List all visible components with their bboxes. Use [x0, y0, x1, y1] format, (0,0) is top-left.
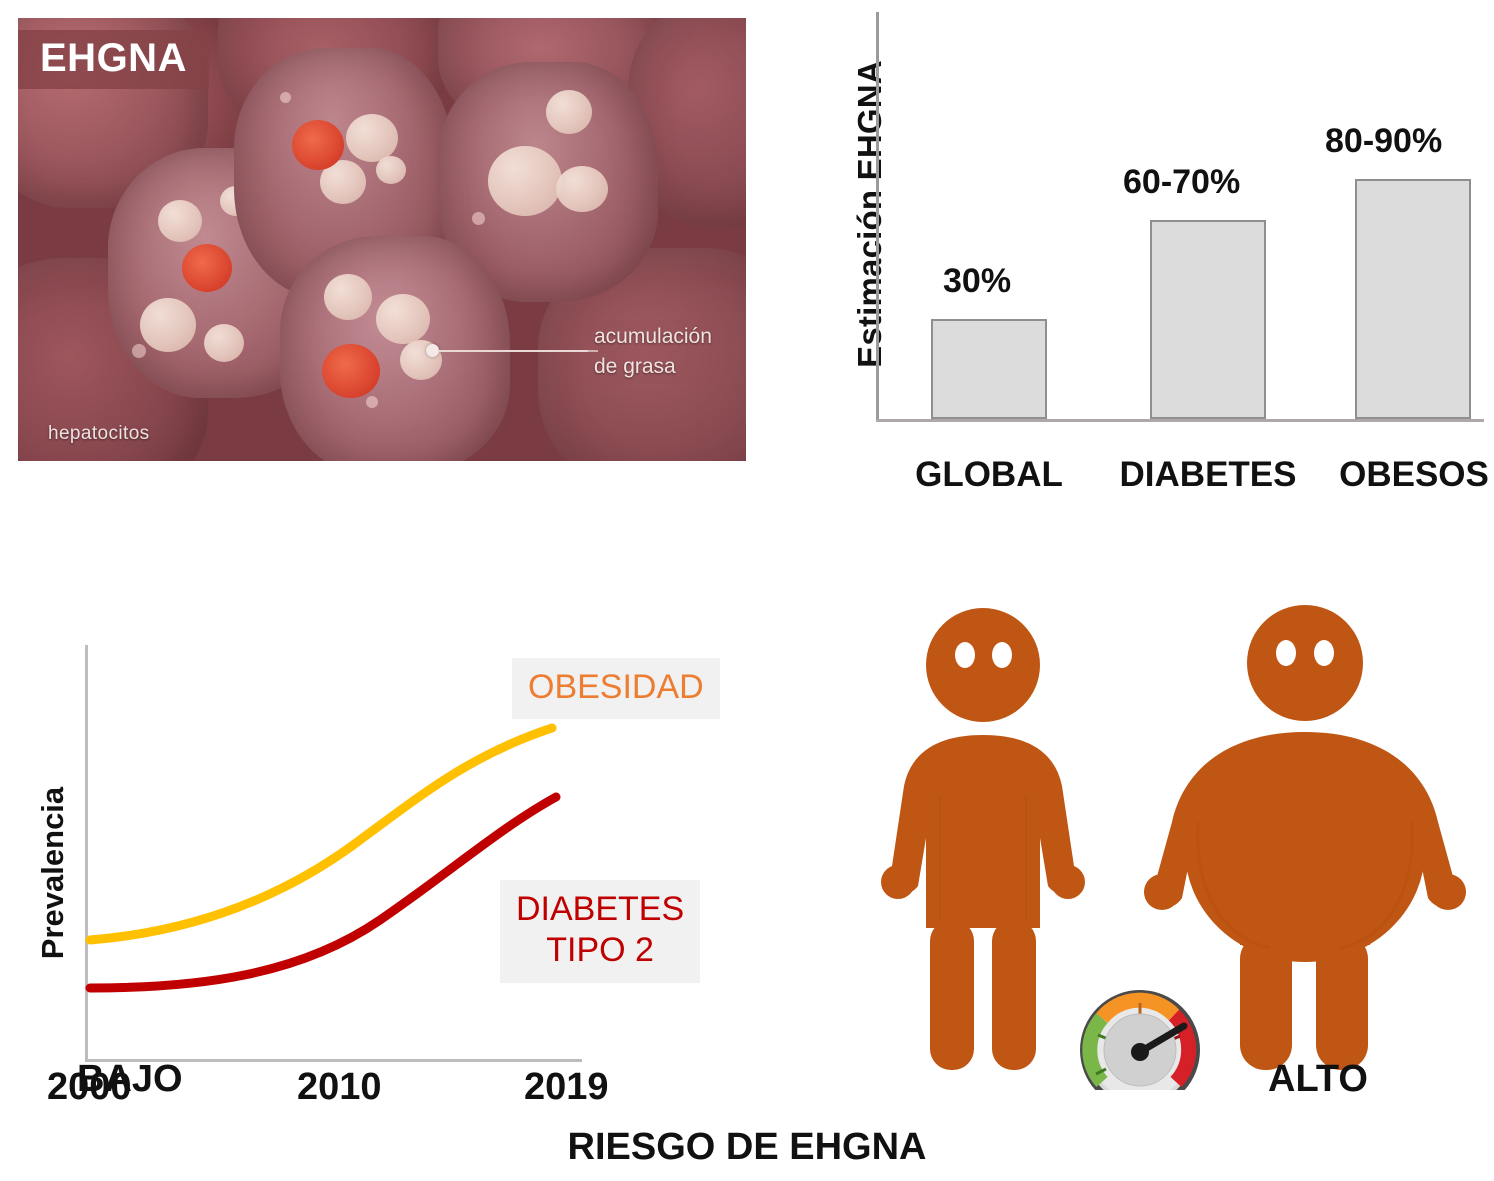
- curve-obesidad: [90, 728, 552, 940]
- ehgna-estimate-bar-chart: Estimación EHGNA 30% GLOBAL 60-70% DIABE…: [790, 0, 1494, 520]
- fat-droplet: [346, 114, 398, 162]
- legend-diabetes-line-2: TIPO 2: [546, 931, 654, 969]
- ehgna-badge: EHGNA: [18, 30, 209, 89]
- callout-line-2: de grasa: [594, 355, 676, 378]
- liver-micrograph-panel: EHGNA acumulación de grasa hepatocitos: [18, 18, 746, 461]
- hepatocytes-label: hepatocitos: [48, 423, 150, 445]
- legend-diabetes-tipo-2: DIABETES TIPO 2: [500, 880, 700, 983]
- fat-droplet: [376, 156, 406, 184]
- legend-diabetes-line-1: DIABETES: [516, 890, 684, 928]
- fat-droplet: [158, 200, 202, 242]
- fat-droplet: [140, 298, 196, 352]
- fat-droplet: [556, 166, 608, 212]
- tissue-speckle: [132, 344, 146, 358]
- x-tick-2010: 2010: [297, 1066, 382, 1109]
- bar-value-global: 30%: [943, 262, 1011, 301]
- bar-category-diabetes: DIABETES: [1108, 455, 1308, 495]
- bar-chart-y-axis: [876, 12, 879, 422]
- bar-obesos: [1355, 179, 1471, 419]
- legend-obesidad: OBESIDAD: [512, 658, 720, 719]
- risk-label-low: BAJO: [77, 1058, 183, 1101]
- fat-droplet: [488, 146, 562, 216]
- bar-category-global: GLOBAL: [903, 455, 1075, 495]
- gauge-icon: [1083, 993, 1197, 1090]
- fat-droplet: [324, 274, 372, 320]
- x-tick-2019: 2019: [524, 1066, 609, 1109]
- fat-accumulation-callout: acumulación de grasa: [426, 310, 716, 390]
- tissue-speckle: [280, 92, 291, 103]
- fat-droplet: [546, 90, 592, 134]
- callout-leader-line: [438, 350, 598, 352]
- bar-chart-x-axis: [876, 419, 1484, 422]
- bar-diabetes: [1150, 220, 1266, 419]
- cell-nucleus: [182, 244, 232, 292]
- risk-panel-title: RIESGO DE EHGNA: [0, 1126, 1494, 1169]
- curve-diabetes-tipo-2: [90, 797, 556, 988]
- bar-global: [931, 319, 1047, 419]
- legend-obesidad-label: OBESIDAD: [528, 668, 704, 706]
- tissue-speckle: [472, 212, 485, 225]
- tissue-speckle: [366, 396, 378, 408]
- bar-value-diabetes: 60-70%: [1123, 163, 1240, 202]
- callout-line-1: acumulación: [594, 325, 712, 348]
- person-normal-icon: [881, 608, 1085, 1070]
- fat-droplet: [376, 294, 430, 344]
- callout-text: acumulación de grasa: [588, 320, 718, 384]
- bar-chart-y-axis-label: Estimación EHGNA: [851, 24, 889, 404]
- ehgna-risk-panel: [850, 590, 1494, 1181]
- person-obese-icon: [1144, 605, 1466, 1070]
- bar-category-obesos: OBESOS: [1325, 455, 1494, 495]
- cell-nucleus: [292, 120, 344, 170]
- cell-nucleus: [322, 344, 380, 398]
- fat-droplet: [204, 324, 244, 362]
- risk-figures-graphic: [850, 590, 1494, 1090]
- bar-value-obesos: 80-90%: [1325, 122, 1442, 161]
- risk-label-high: ALTO: [1268, 1058, 1368, 1101]
